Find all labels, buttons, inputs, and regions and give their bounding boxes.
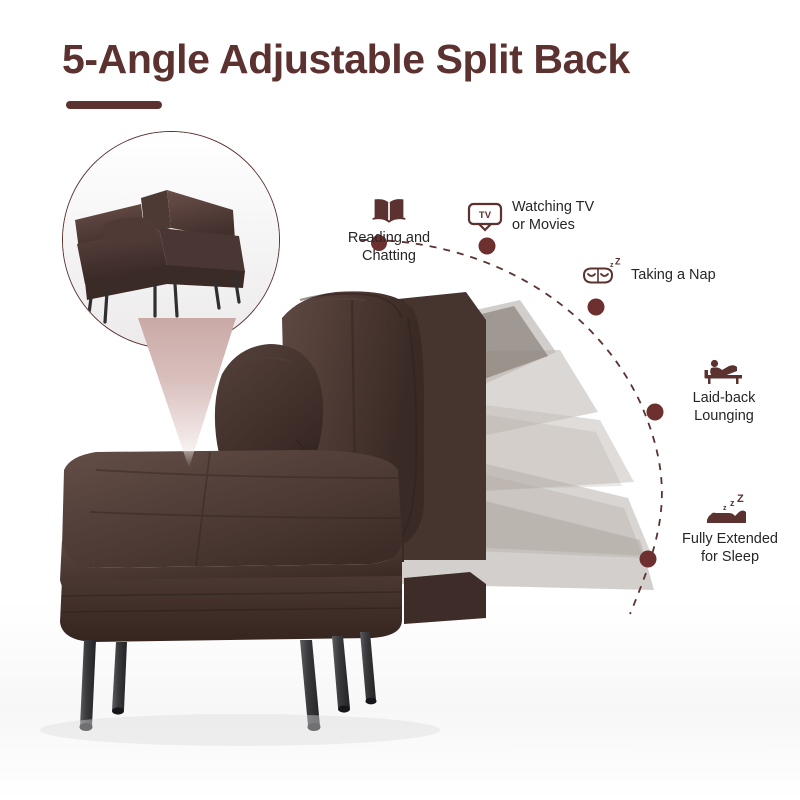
sleep-mask-icon: z Z — [580, 258, 624, 292]
callout-nap[interactable]: z Z Taking a Nap — [580, 258, 716, 292]
tv-icon: TV — [466, 200, 504, 232]
svg-text:TV: TV — [479, 210, 492, 221]
callout-sleep-label: Fully Extended for Sleep — [682, 530, 778, 566]
person-sleeping-icon: z z Z — [703, 494, 757, 528]
svg-text:z: z — [730, 498, 735, 508]
open-book-icon — [372, 196, 406, 224]
callout-reading[interactable]: Reading and Chatting — [330, 196, 448, 265]
svg-text:z: z — [610, 262, 614, 269]
callout-watching-tv-label: Watching TV or Movies — [512, 198, 594, 234]
svg-text:Z: Z — [737, 494, 744, 505]
svg-text:z: z — [723, 505, 727, 512]
svg-text:Z: Z — [615, 258, 621, 267]
callout-nap-label: Taking a Nap — [631, 266, 716, 284]
callout-lounging-label: Laid-back Lounging — [693, 389, 756, 425]
callout-lounging[interactable]: Laid-back Lounging — [672, 358, 776, 425]
person-reclining-icon — [702, 358, 746, 386]
callout-reading-label: Reading and Chatting — [348, 229, 430, 265]
infographic-canvas: 5-Angle Adjustable Split Back — [0, 0, 800, 800]
callout-sleep[interactable]: z z Z Fully Extended for Sleep — [676, 494, 784, 566]
callout-watching-tv[interactable]: TV Watching TV or Movies — [466, 198, 594, 234]
